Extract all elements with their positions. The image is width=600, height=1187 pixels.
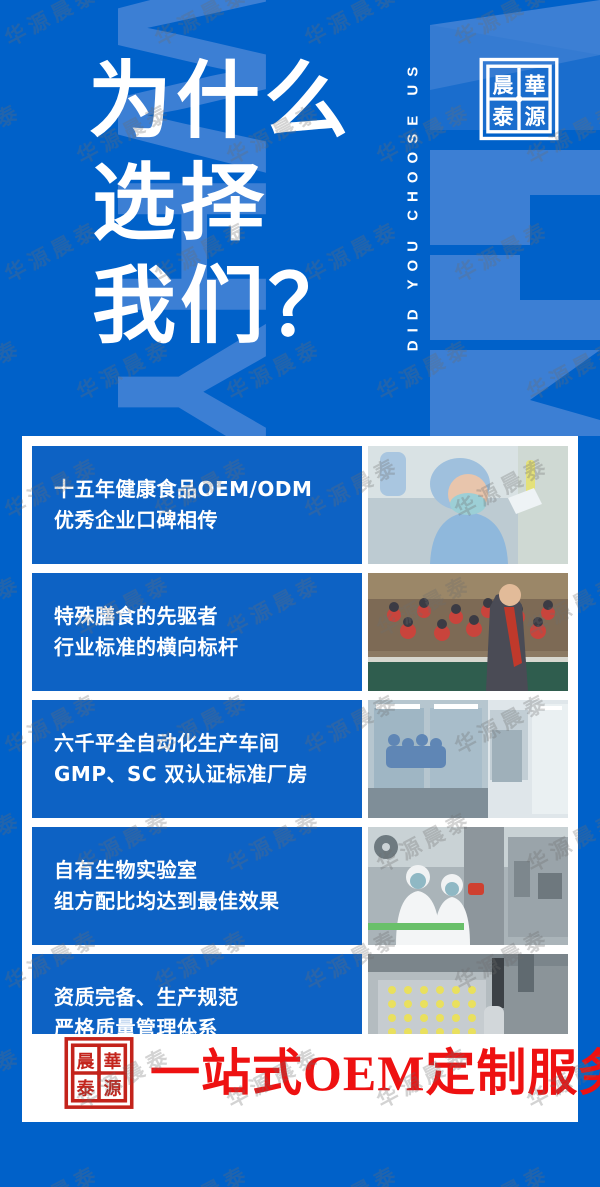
watermark-text: 华源晨泰 (449, 1157, 555, 1187)
vertical-tagline-text: DID YOU CHOOSE US (405, 59, 422, 351)
feature-line-2: 优秀企业口碑相传 (54, 505, 362, 536)
feature-text-block: 自有生物实验室 组方配比均达到最佳效果 (32, 827, 362, 945)
feature-photo (368, 573, 568, 691)
company-stamp-red-icon: 晨 華 泰 源 (62, 1036, 136, 1110)
feature-photo (368, 700, 568, 818)
svg-text:晨: 晨 (77, 1051, 95, 1072)
svg-text:華: 華 (104, 1050, 122, 1072)
features-panel: 十五年健康食品OEM/ODM 优秀企业口碑相传 (22, 436, 578, 1122)
feature-photo (368, 827, 568, 945)
feature-row[interactable]: 十五年健康食品OEM/ODM 优秀企业口碑相传 (32, 446, 568, 564)
svg-text:源: 源 (104, 1077, 122, 1099)
svg-text:泰: 泰 (492, 105, 515, 129)
watermark-text: 华源晨泰 (149, 1157, 255, 1187)
feature-row[interactable]: 六千平全自动化生产车间 GMP、SC 双认证标准厂房 (32, 700, 568, 818)
feature-line-1: 六千平全自动化生产车间 (54, 728, 362, 759)
watermark-text: 华源晨泰 (299, 1157, 405, 1187)
page-title: 为什么 选择 我们？ (88, 52, 356, 359)
feature-photo (368, 446, 568, 564)
company-stamp-icon: 晨 華 泰 源 (477, 55, 561, 143)
footer-slogan: 一站式OEM定制服务 (150, 1048, 600, 1098)
feature-line-1: 自有生物实验室 (54, 855, 362, 886)
feature-text-block: 十五年健康食品OEM/ODM 优秀企业口碑相传 (32, 446, 362, 564)
feature-line-2: 组方配比均达到最佳效果 (54, 886, 362, 917)
svg-text:晨: 晨 (493, 73, 515, 97)
feature-line-2: GMP、SC 双认证标准厂房 (54, 759, 362, 790)
watermark-text: 华源晨泰 (0, 1157, 105, 1187)
headline-line-3: 我们？ (88, 257, 356, 359)
feature-line-1: 十五年健康食品OEM/ODM (54, 474, 362, 505)
clean-room-photo (368, 700, 568, 818)
svg-text:泰: 泰 (76, 1077, 95, 1099)
feature-line-1: 特殊膳食的先驱者 (54, 601, 362, 632)
feature-row[interactable]: 自有生物实验室 组方配比均达到最佳效果 (32, 827, 568, 945)
poster-root: WHY 为什么 选择 我们？ DID YOU CHOOSE US 晨 華 泰 源… (0, 0, 600, 1187)
headline-line-1: 为什么 (88, 52, 356, 154)
feature-line-2: 行业标准的横向标杆 (54, 632, 362, 663)
svg-text:源: 源 (524, 105, 545, 129)
svg-text:華: 華 (524, 73, 545, 97)
vertical-tagline: DID YOU CHOOSE US (396, 10, 430, 400)
feature-text-block: 特殊膳食的先驱者 行业标准的横向标杆 (32, 573, 362, 691)
feature-line-1: 资质完备、生产规范 (54, 982, 362, 1013)
headline-line-2: 选择 (88, 154, 356, 256)
conference-audience-photo (368, 573, 568, 691)
feature-text-block: 六千平全自动化生产车间 GMP、SC 双认证标准厂房 (32, 700, 362, 818)
feature-row[interactable]: 特殊膳食的先驱者 行业标准的横向标杆 (32, 573, 568, 691)
lab-technician-photo (368, 446, 568, 564)
packaging-line-photo (368, 827, 568, 945)
footer-banner[interactable]: 晨 華 泰 源 一站式OEM定制服务 (32, 1034, 568, 1112)
